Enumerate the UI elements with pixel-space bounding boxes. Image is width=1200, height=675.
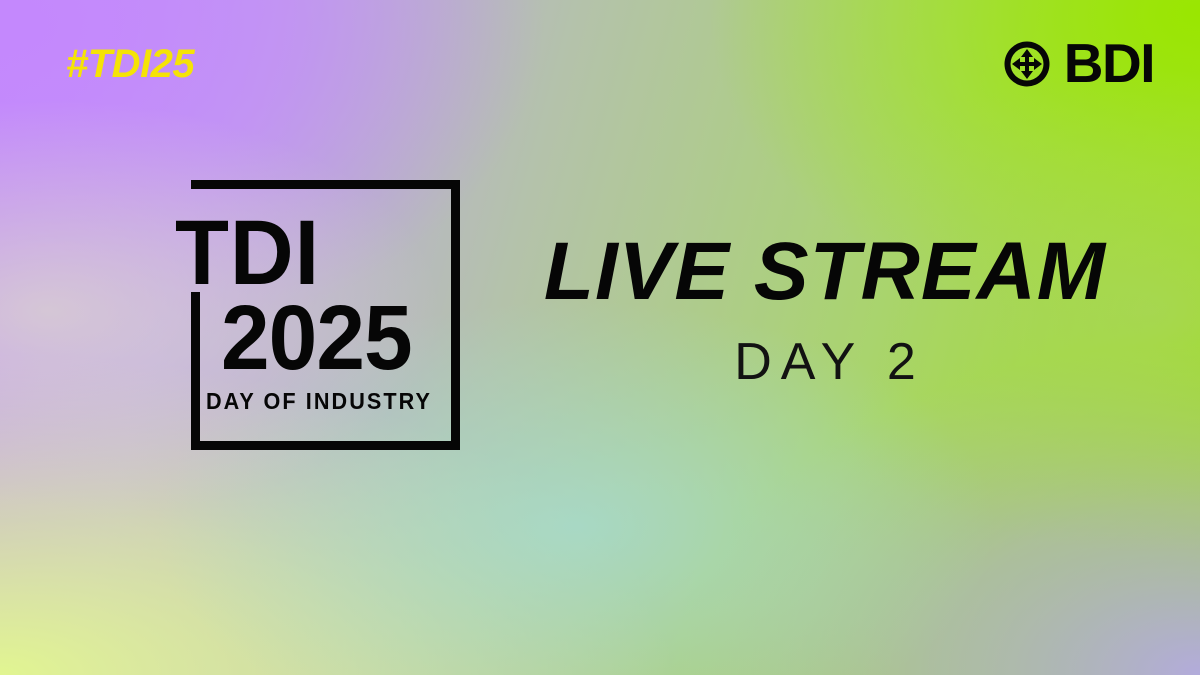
- logo-frame-top: [191, 180, 460, 189]
- event-hashtag: #TDI25: [66, 44, 194, 84]
- logo-frame-left: [191, 292, 200, 450]
- headline-title: LIVE STREAM: [540, 230, 1110, 314]
- logo-frame-right: [451, 180, 460, 450]
- bdi-circular-arrows-icon: [1002, 39, 1052, 89]
- bdi-wordmark: BDI: [1064, 36, 1154, 91]
- logo-year: 2025: [221, 292, 412, 384]
- headline-block: LIVE STREAM DAY 2: [540, 230, 1110, 388]
- bdi-logo: BDI: [1002, 36, 1154, 91]
- logo-frame-bottom: [191, 441, 460, 450]
- logo-tagline: DAY OF INDUSTRY: [206, 390, 432, 413]
- logo-acronym: TDI: [175, 207, 320, 299]
- headline-subtitle: DAY 2: [540, 336, 1110, 388]
- tdi-2025-logo: TDI 2025 DAY OF INDUSTRY: [175, 180, 460, 455]
- title-card-canvas: #TDI25 BDI TDI 2025 DAY: [0, 0, 1200, 675]
